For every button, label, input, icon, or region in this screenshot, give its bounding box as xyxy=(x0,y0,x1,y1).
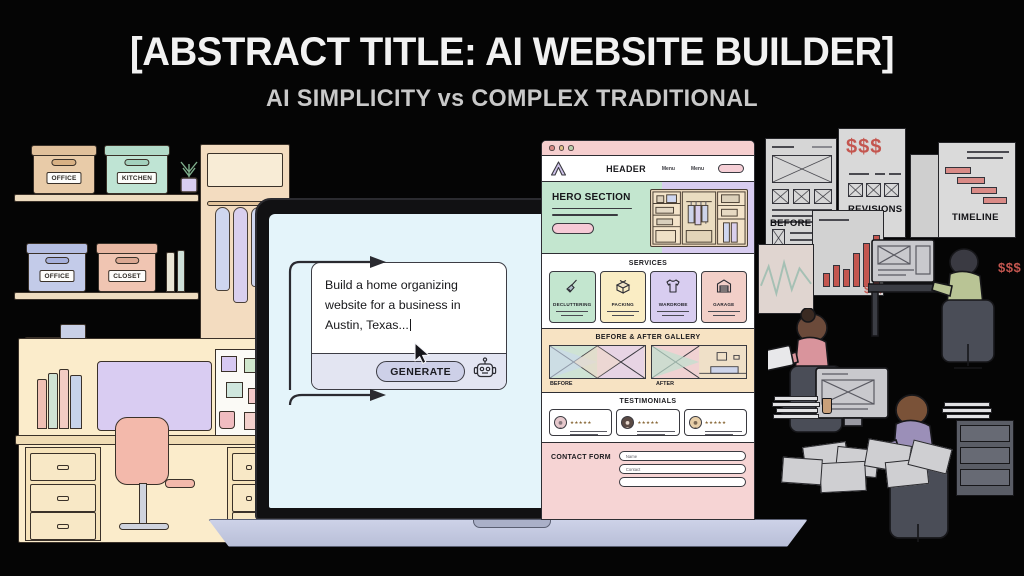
storage-box-office-1: OFFICE xyxy=(33,150,95,194)
garage-icon xyxy=(716,278,732,299)
testimonials-section: TESTIMONIALS ★★★★★ ★★★★★ xyxy=(542,393,754,443)
site-navbar: HEADER Menu Menu xyxy=(542,156,754,182)
service-label: GARAGE xyxy=(713,302,734,307)
box-label: OFFICE xyxy=(46,172,81,184)
storage-box-office-2: OFFICE xyxy=(28,248,86,292)
testimonial-card[interactable]: ★★★★★ xyxy=(549,409,612,436)
page-title: [ABSTRACT TITLE: AI WEBSITE BUILDER] xyxy=(20,30,1003,75)
testimonials-title: TESTIMONIALS xyxy=(542,398,754,405)
office-chair xyxy=(115,417,169,485)
slide-canvas: [ABSTRACT TITLE: AI WEBSITE BUILDER] AI … xyxy=(0,0,1024,576)
book xyxy=(177,250,185,292)
service-card-packing[interactable]: PACKING xyxy=(600,271,647,323)
gallery-section: BEFORE & AFTER GALLERY xyxy=(542,329,754,393)
gallery-caption-after: AFTER xyxy=(648,379,754,387)
window-dot-close[interactable] xyxy=(549,145,555,151)
services-title: SERVICES xyxy=(542,260,754,267)
potted-plant-icon xyxy=(176,156,202,199)
service-label: DECLUTTERING xyxy=(553,302,591,307)
closet-illustration xyxy=(650,189,748,247)
laptop-trackpad-notch xyxy=(473,519,551,528)
avatar-icon xyxy=(554,416,567,429)
service-card-decluttering[interactable]: DECLUTTERING xyxy=(549,271,596,323)
worker-upper-right xyxy=(868,238,1018,383)
page-subtitle: AI SIMPLICITY vs COMPLEX TRADITIONAL xyxy=(15,85,1008,113)
box-label: KITCHEN xyxy=(117,172,157,184)
timeline-sheet xyxy=(938,142,1016,238)
contact-form-section: CONTACT FORM Name Contact xyxy=(542,443,754,519)
window-dot-minimize[interactable] xyxy=(559,145,565,151)
gallery-image-before[interactable] xyxy=(549,345,646,379)
storage-box-kitchen: KITCHEN xyxy=(106,150,168,194)
tshirt-icon xyxy=(665,278,681,299)
service-card-garage[interactable]: GARAGE xyxy=(701,271,748,323)
service-label: PACKING xyxy=(612,302,634,307)
gallery-image-after[interactable] xyxy=(651,345,748,379)
shelf-board xyxy=(14,292,199,300)
box-label: OFFICE xyxy=(39,270,74,282)
shelf-board xyxy=(14,194,199,202)
prompt-input[interactable]: Build a home organizing website for a bu… xyxy=(312,263,506,353)
nav-menu-item-2[interactable]: Menu xyxy=(691,166,704,172)
nav-cta-button[interactable] xyxy=(718,164,744,173)
triangle-a-logo-icon xyxy=(550,161,567,176)
testimonial-card[interactable]: ★★★★★ xyxy=(616,409,679,436)
pen-cup xyxy=(219,411,235,429)
cost-marker-dollars-corner: $$$ xyxy=(998,260,1021,275)
service-label: WARDROBE xyxy=(659,302,688,307)
rating-stars: ★★★★★ xyxy=(637,420,659,425)
site-header-title: HEADER xyxy=(606,164,646,174)
nav-menu-item-1[interactable]: Menu xyxy=(662,166,675,172)
ai-prompt-card[interactable]: Build a home organizing website for a bu… xyxy=(311,262,507,390)
services-section: SERVICES DECLUTTERING xyxy=(542,254,754,329)
home-desk-scene xyxy=(18,338,270,543)
window-dot-maximize[interactable] xyxy=(568,145,574,151)
testimonial-card[interactable]: ★★★★★ xyxy=(684,409,747,436)
box-label: CLOSET xyxy=(108,270,146,282)
prompt-text: Build a home organizing website for a bu… xyxy=(325,278,461,332)
generated-website-mockup[interactable]: HEADER Menu Menu HERO SECTION xyxy=(541,140,755,520)
paper-label-timeline: TIMELINE xyxy=(952,212,999,223)
contact-field-name[interactable]: Name xyxy=(619,451,746,461)
book xyxy=(166,252,175,292)
prompt-toolbar: GENERATE xyxy=(312,353,506,389)
avatar-icon xyxy=(621,416,634,429)
gallery-caption-before: BEFORE xyxy=(542,379,648,387)
service-card-wardrobe[interactable]: WARDROBE xyxy=(650,271,697,323)
filing-cabinet xyxy=(956,420,1014,496)
hero-cta-button[interactable] xyxy=(552,223,594,234)
contact-field-message[interactable] xyxy=(619,477,746,487)
tidy-home-scene: OFFICE KITCHEN OFFICE CLOSET xyxy=(18,128,270,543)
contact-form-title: CONTACT FORM xyxy=(551,451,611,519)
cost-marker-dollars: $$$ xyxy=(846,136,882,159)
storage-box-closet: CLOSET xyxy=(98,248,156,292)
rating-stars: ★★★★★ xyxy=(570,420,592,425)
analytics-sheet xyxy=(758,244,814,314)
gallery-title: BEFORE & AFTER GALLERY xyxy=(542,334,754,341)
robot-icon xyxy=(473,357,497,386)
laptop-screen: Build a home organizing website for a bu… xyxy=(269,214,571,508)
text-caret xyxy=(410,319,411,331)
box-icon xyxy=(615,278,631,299)
hero-section: HERO SECTION xyxy=(542,182,754,254)
browser-titlebar xyxy=(542,141,754,156)
avatar-icon xyxy=(689,416,702,429)
coffee-cup xyxy=(822,398,832,414)
broom-icon xyxy=(564,278,580,299)
rating-stars: ★★★★★ xyxy=(705,420,727,425)
laptop: Build a home organizing website for a bu… xyxy=(255,198,585,520)
desk-drawers-left xyxy=(25,447,101,541)
mouse-pointer-icon xyxy=(414,342,432,371)
paper-label-before: BEFORE xyxy=(770,218,811,229)
contact-field-contact[interactable]: Contact xyxy=(619,464,746,474)
agency-chaos-scene: BEFORE $$$ REVISIONS TIMELINE xyxy=(760,126,1024,576)
